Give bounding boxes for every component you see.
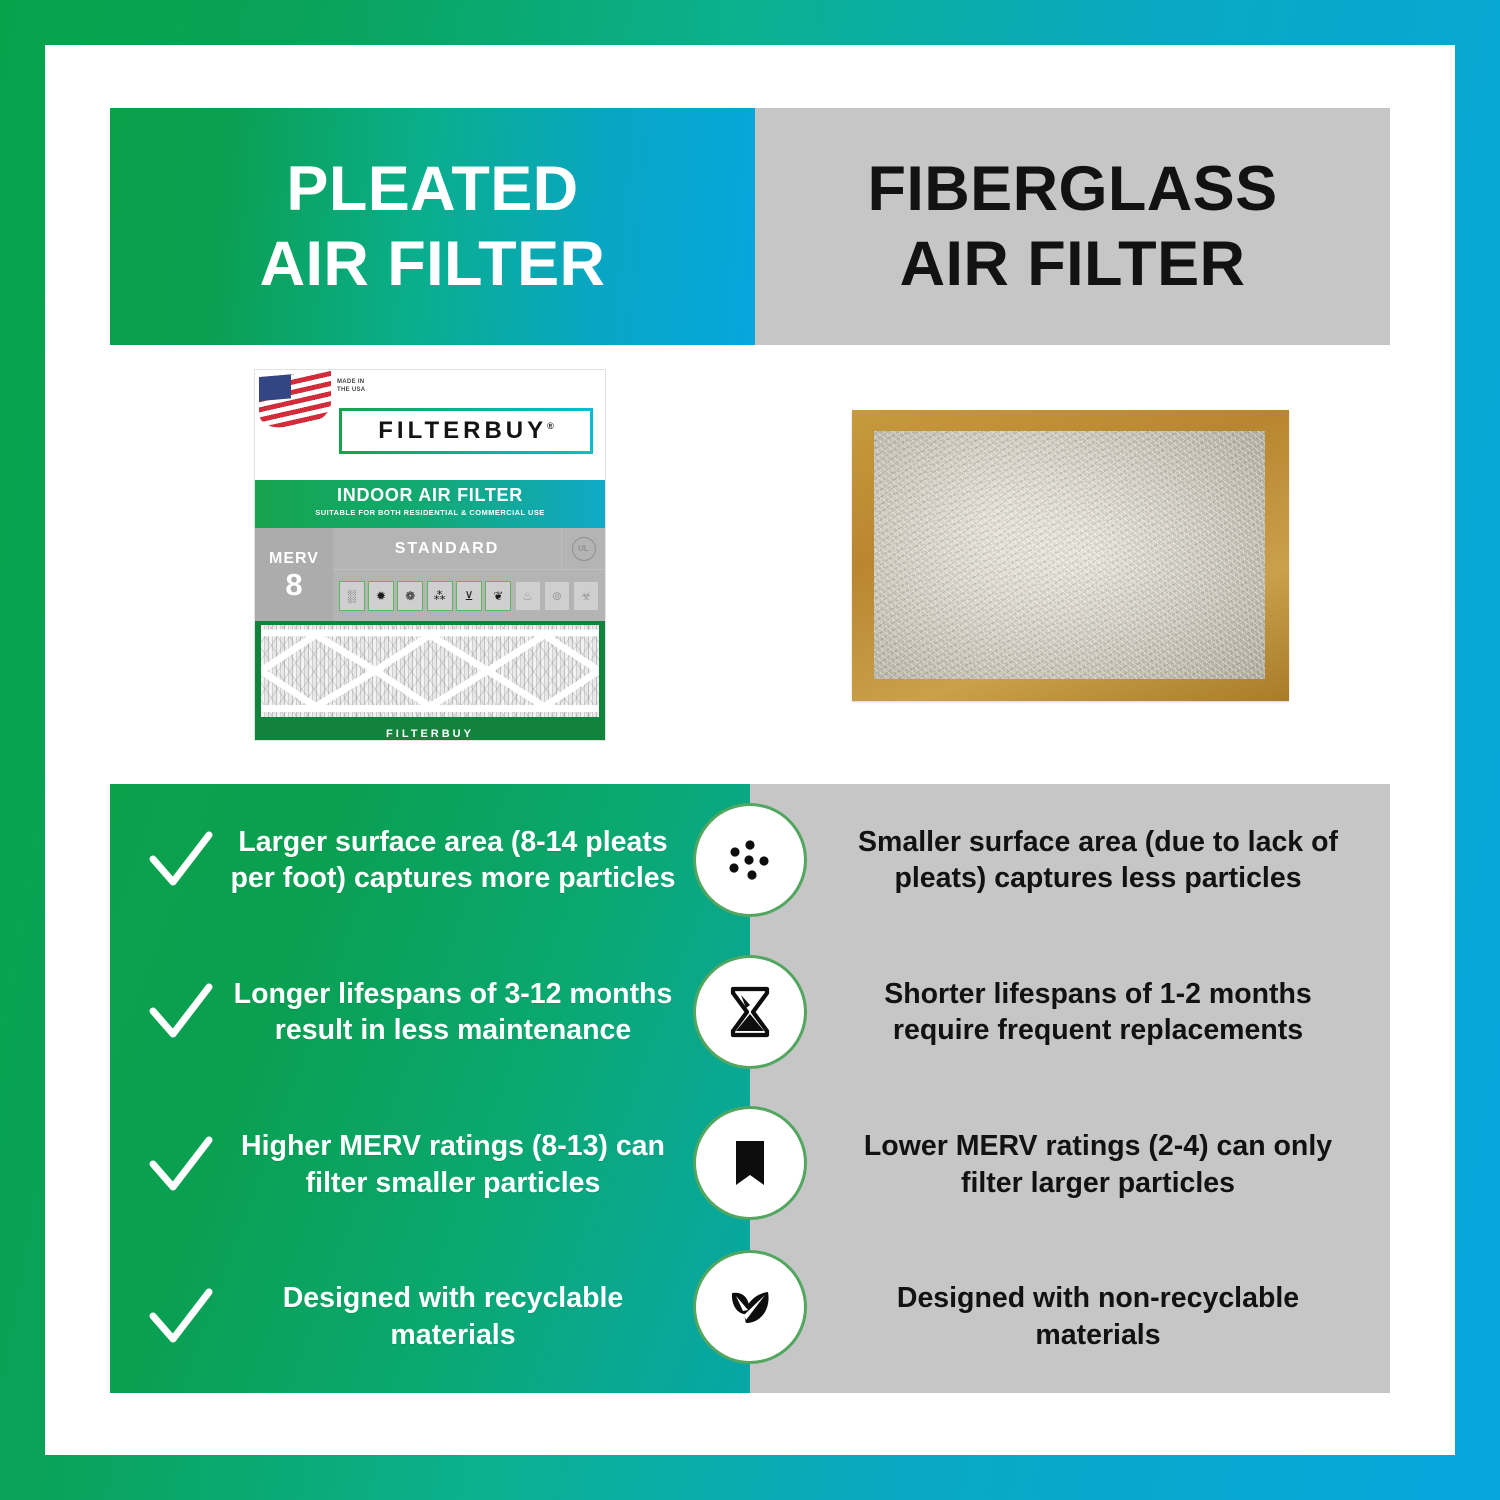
- header-fiberglass-title: FIBERGLASS AIR FILTER: [867, 152, 1277, 301]
- comparison-row: Designed with recyclable materials: [110, 1241, 750, 1393]
- checkmark-icon: [144, 823, 218, 897]
- pleated-benefit-text: Higher MERV ratings (8-13) can filter sm…: [218, 1128, 688, 1201]
- merv-spec-right: STANDARD UL ░ ✹ ❁ ⁂ ⊻: [333, 528, 605, 621]
- pet-dander-icon: ❦: [485, 581, 511, 611]
- made-in-line1: MADE IN: [337, 378, 365, 386]
- pleated-product-cell: MADE IN THE USA FILTERBUY® INDOOR AIR FI…: [110, 345, 750, 765]
- pleated-filter-product-image: MADE IN THE USA FILTERBUY® INDOOR AIR FI…: [254, 369, 606, 741]
- fiberglass-drawback-text: Shorter lifespans of 1-2 months require …: [846, 976, 1350, 1049]
- infographic-page: PLEATED AIR FILTER FIBERGLASS AIR FILTER: [0, 0, 1500, 1500]
- hourglass-icon-glyph: [719, 981, 781, 1043]
- hourglass-icon: [693, 955, 807, 1069]
- header-fiberglass: FIBERGLASS AIR FILTER: [755, 108, 1390, 345]
- header-band: PLEATED AIR FILTER FIBERGLASS AIR FILTER: [110, 108, 1390, 345]
- checkmark-icon: [144, 975, 218, 1049]
- mold-icon: ⁂: [427, 581, 453, 611]
- comparison-row: Lower MERV ratings (2-4) can only filter…: [750, 1089, 1390, 1241]
- comparison-row: Higher MERV ratings (8-13) can filter sm…: [110, 1089, 750, 1241]
- lint-icon: ⊻: [456, 581, 482, 611]
- checkmark-icon: [144, 1128, 218, 1202]
- pollen-icon: ❁: [397, 581, 423, 611]
- comparison-section: Larger surface area (8-14 pleats per foo…: [110, 784, 1390, 1393]
- particles-icon-glyph: [719, 829, 781, 891]
- pleated-media-texture: [261, 625, 599, 717]
- pleated-benefit-text: Longer lifespans of 3-12 months result i…: [218, 976, 688, 1049]
- indoor-air-filter-banner: INDOOR AIR FILTER SUITABLE FOR BOTH RESI…: [255, 480, 605, 528]
- grade-label: STANDARD: [333, 540, 561, 558]
- support-wire-grid-icon: [261, 625, 599, 716]
- merv-spec-strip: MERV 8 STANDARD UL ░: [255, 528, 605, 621]
- comparison-row: Designed with non-recyclable materials: [750, 1241, 1390, 1393]
- fiberglass-drawbacks-column: Smaller surface area (due to lack of ple…: [750, 784, 1390, 1393]
- comparison-infographic: PLEATED AIR FILTER FIBERGLASS AIR FILTER: [110, 108, 1390, 1393]
- fiberglass-drawback-text: Smaller surface area (due to lack of ple…: [846, 824, 1350, 897]
- pleated-media-window: FILTERBUY: [255, 621, 605, 741]
- pleated-benefit-text: Larger surface area (8-14 pleats per foo…: [218, 824, 688, 897]
- merv-label: MERV: [269, 550, 319, 568]
- pleated-benefits-column: Larger surface area (8-14 pleats per foo…: [110, 784, 750, 1393]
- header-pleated: PLEATED AIR FILTER: [110, 108, 755, 345]
- pleated-rows: Larger surface area (8-14 pleats per foo…: [110, 784, 750, 1393]
- fiberglass-rows: Smaller surface area (due to lack of ple…: [750, 784, 1390, 1393]
- comparison-row: Longer lifespans of 3-12 months result i…: [110, 936, 750, 1088]
- ul-mark-icon: UL: [572, 537, 596, 561]
- header-fiberglass-line1: FIBERGLASS: [867, 152, 1277, 226]
- smoke-icon: ♨: [515, 581, 541, 611]
- dust-lint-icon: ░: [339, 581, 365, 611]
- fiberglass-media-texture: [874, 431, 1265, 679]
- filterbuy-logo-box: FILTERBUY®: [339, 408, 593, 454]
- merv-value: 8: [285, 569, 302, 600]
- leaves-icon: [693, 1250, 807, 1364]
- fiberglass-product-cell: [750, 345, 1390, 765]
- usa-flag-icon: [259, 371, 331, 429]
- fiberglass-filter-product-image: [852, 410, 1289, 701]
- made-in-usa-text: MADE IN THE USA: [337, 378, 365, 394]
- dust-mites-icon: ✹: [368, 581, 394, 611]
- brand-word: FILTERBUY: [378, 417, 547, 444]
- product-images-row: MADE IN THE USA FILTERBUY® INDOOR AIR FI…: [110, 345, 1390, 765]
- bookmark-icon-glyph: [719, 1132, 781, 1194]
- virus-icon: ☣: [573, 581, 599, 611]
- comparison-row: Shorter lifespans of 1-2 months require …: [750, 936, 1390, 1088]
- pleated-footer-brand: FILTERBUY: [255, 728, 605, 740]
- ul-certification: UL: [561, 528, 605, 569]
- grade-row: STANDARD UL: [333, 528, 605, 570]
- fiberglass-drawback-text: Lower MERV ratings (2-4) can only filter…: [846, 1128, 1350, 1201]
- brand-trademark: ®: [547, 421, 554, 431]
- comparison-row: Larger surface area (8-14 pleats per foo…: [110, 784, 750, 936]
- header-pleated-line1: PLEATED: [260, 152, 606, 226]
- made-in-line2: THE USA: [337, 386, 365, 394]
- header-pleated-line2: AIR FILTER: [260, 227, 606, 301]
- filterbuy-logo-text: FILTERBUY®: [378, 417, 554, 445]
- pleated-benefit-text: Designed with recyclable materials: [218, 1280, 688, 1353]
- bacteria-icon: ⊚: [544, 581, 570, 611]
- comparison-row: Smaller surface area (due to lack of ple…: [750, 784, 1390, 936]
- bookmark-icon: [693, 1106, 807, 1220]
- banner-title: INDOOR AIR FILTER: [255, 485, 605, 506]
- fiberglass-drawback-text: Designed with non-recyclable materials: [846, 1280, 1350, 1353]
- pleated-label-top: MADE IN THE USA FILTERBUY®: [255, 370, 605, 480]
- header-fiberglass-line2: AIR FILTER: [867, 227, 1277, 301]
- header-pleated-title: PLEATED AIR FILTER: [260, 152, 606, 301]
- merv-badge: MERV 8: [255, 528, 333, 621]
- checkmark-icon: [144, 1280, 218, 1354]
- banner-subtitle: SUITABLE FOR BOTH RESIDENTIAL & COMMERCI…: [255, 508, 605, 517]
- particles-icon: [693, 803, 807, 917]
- leaves-icon-glyph: [719, 1276, 781, 1338]
- capability-icon-strip: ░ ✹ ❁ ⁂ ⊻ ❦ ♨ ⊚ ☣: [333, 570, 605, 621]
